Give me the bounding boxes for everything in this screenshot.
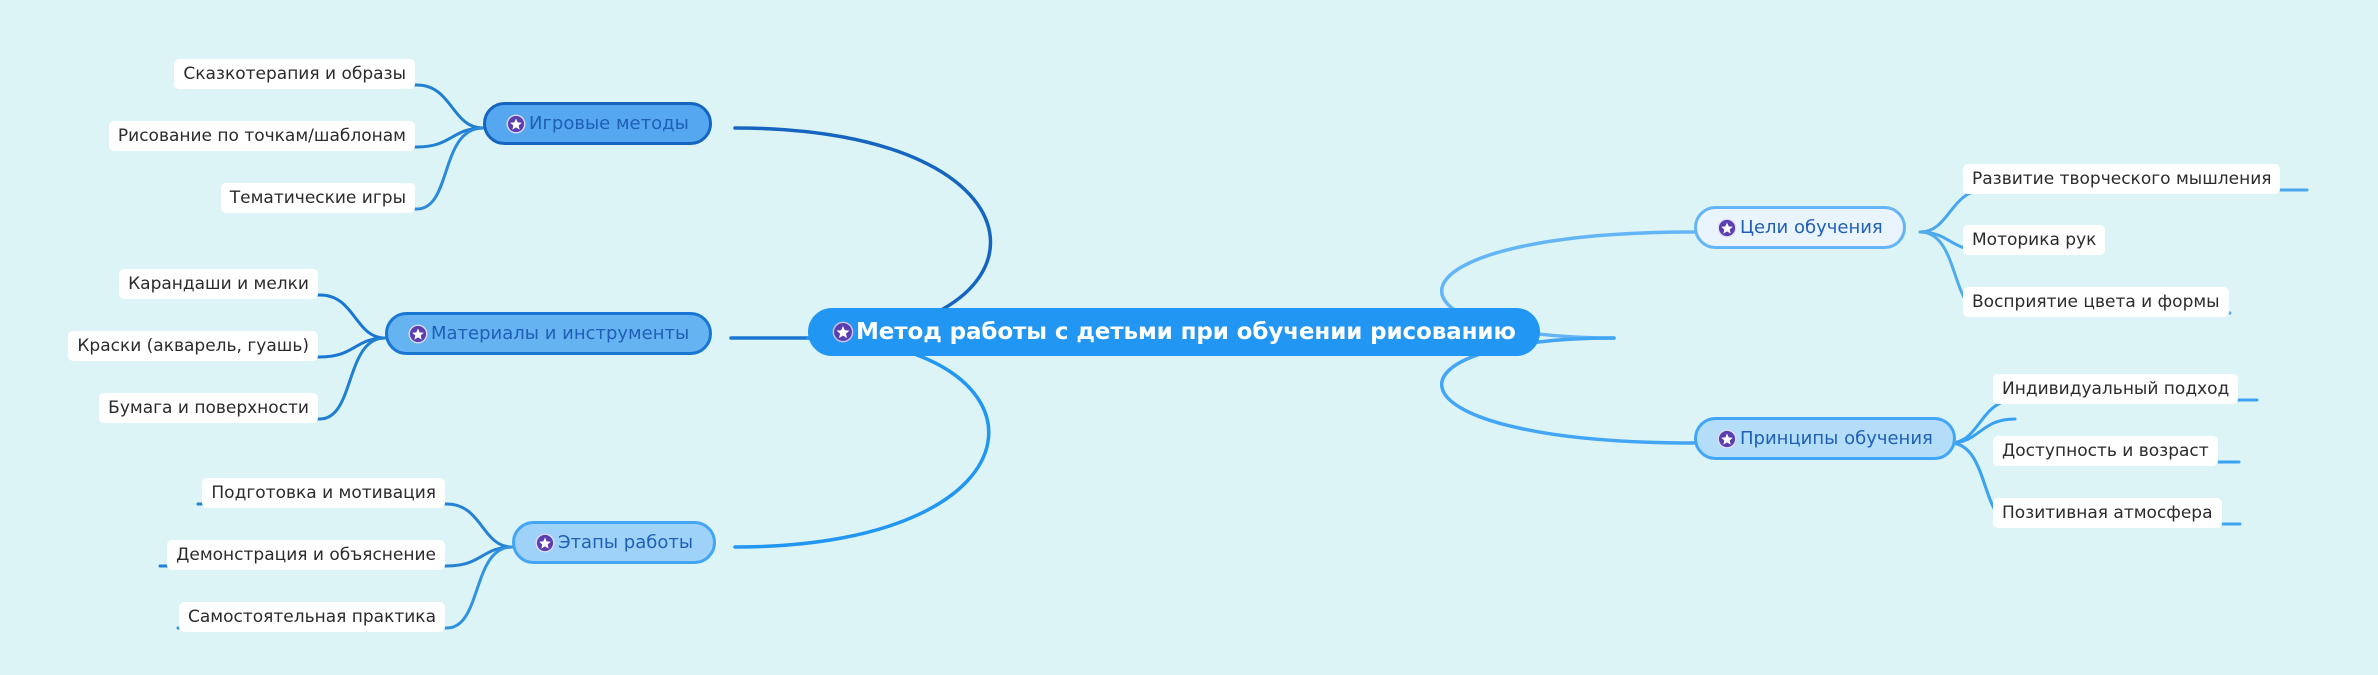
leaf-node[interactable]: Тематические игры — [221, 183, 415, 213]
leaf-label: Краски (акварель, гуашь) — [77, 336, 309, 356]
leaf-label: Развитие творческого мышления — [1972, 169, 2271, 189]
leaf-node[interactable]: Развитие творческого мышления — [1963, 164, 2280, 194]
branch-node-igrovye-metody[interactable]: Игровые методы — [483, 102, 712, 145]
branch-label-etapy-raboty: Этапы работы — [558, 532, 693, 553]
branch-node-etapy-raboty[interactable]: Этапы работы — [512, 521, 716, 564]
star-badge-icon — [832, 321, 854, 343]
leaf-label: Самостоятельная практика — [188, 607, 436, 627]
leaf-node[interactable]: Самостоятельная практика — [179, 602, 445, 632]
leaf-label: Индивидуальный подход — [2002, 379, 2229, 399]
leaf-node[interactable]: Краски (акварель, гуашь) — [68, 331, 318, 361]
leaf-label: Доступность и возраст — [2002, 441, 2209, 461]
leaf-label: Восприятие цвета и формы — [1972, 292, 2220, 312]
branch-node-celi-obucheniya[interactable]: Цели обучения — [1694, 206, 1906, 249]
branch-label-igrovye-metody: Игровые методы — [529, 113, 689, 134]
branch-node-materialy-i-instrumenty[interactable]: Материалы и инструменты — [385, 312, 712, 355]
branch-label-principy-obucheniya: Принципы обучения — [1740, 428, 1933, 449]
leaf-label: Карандаши и мелки — [128, 274, 309, 294]
leaf-label: Бумага и поверхности — [108, 398, 309, 418]
leaf-node[interactable]: Позитивная атмосфера — [1993, 498, 2222, 528]
leaf-label: Демонстрация и объяснение — [176, 545, 436, 565]
branch-node-principy-obucheniya[interactable]: Принципы обучения — [1694, 417, 1956, 460]
star-badge-icon — [1717, 218, 1737, 238]
leaf-node[interactable]: Восприятие цвета и формы — [1963, 287, 2229, 317]
star-badge-icon — [535, 533, 555, 553]
leaf-label: Сказкотерапия и образы — [183, 64, 406, 84]
leaf-node[interactable]: Карандаши и мелки — [119, 269, 318, 299]
leaf-node[interactable]: Доступность и возраст — [1993, 436, 2218, 466]
root-node[interactable]: Метод работы с детьми при обучении рисов… — [808, 308, 1540, 356]
leaf-node[interactable]: Демонстрация и объяснение — [167, 540, 445, 570]
leaf-node[interactable]: Индивидуальный подход — [1993, 374, 2238, 404]
star-badge-icon — [408, 324, 428, 344]
leaf-node[interactable]: Сказкотерапия и образы — [174, 59, 415, 89]
root-label: Метод работы с детьми при обучении рисов… — [856, 319, 1516, 345]
star-badge-icon — [506, 114, 526, 134]
leaf-label: Подготовка и мотивация — [211, 483, 436, 503]
leaf-label: Позитивная атмосфера — [2002, 503, 2213, 523]
branch-label-celi-obucheniya: Цели обучения — [1740, 217, 1883, 238]
leaf-node[interactable]: Подготовка и мотивация — [202, 478, 445, 508]
leaf-node[interactable]: Моторика рук — [1963, 225, 2105, 255]
leaf-label: Тематические игры — [230, 188, 406, 208]
leaf-label: Моторика рук — [1972, 230, 2096, 250]
leaf-node[interactable]: Бумага и поверхности — [99, 393, 318, 423]
leaf-label: Рисование по точкам/шаблонам — [118, 126, 406, 146]
star-badge-icon — [1717, 429, 1737, 449]
branch-label-materialy-i-instrumenty: Материалы и инструменты — [431, 323, 689, 344]
mindmap-canvas: Метод работы с детьми при обучении рисов… — [0, 0, 2378, 675]
leaf-node[interactable]: Рисование по точкам/шаблонам — [109, 121, 415, 151]
